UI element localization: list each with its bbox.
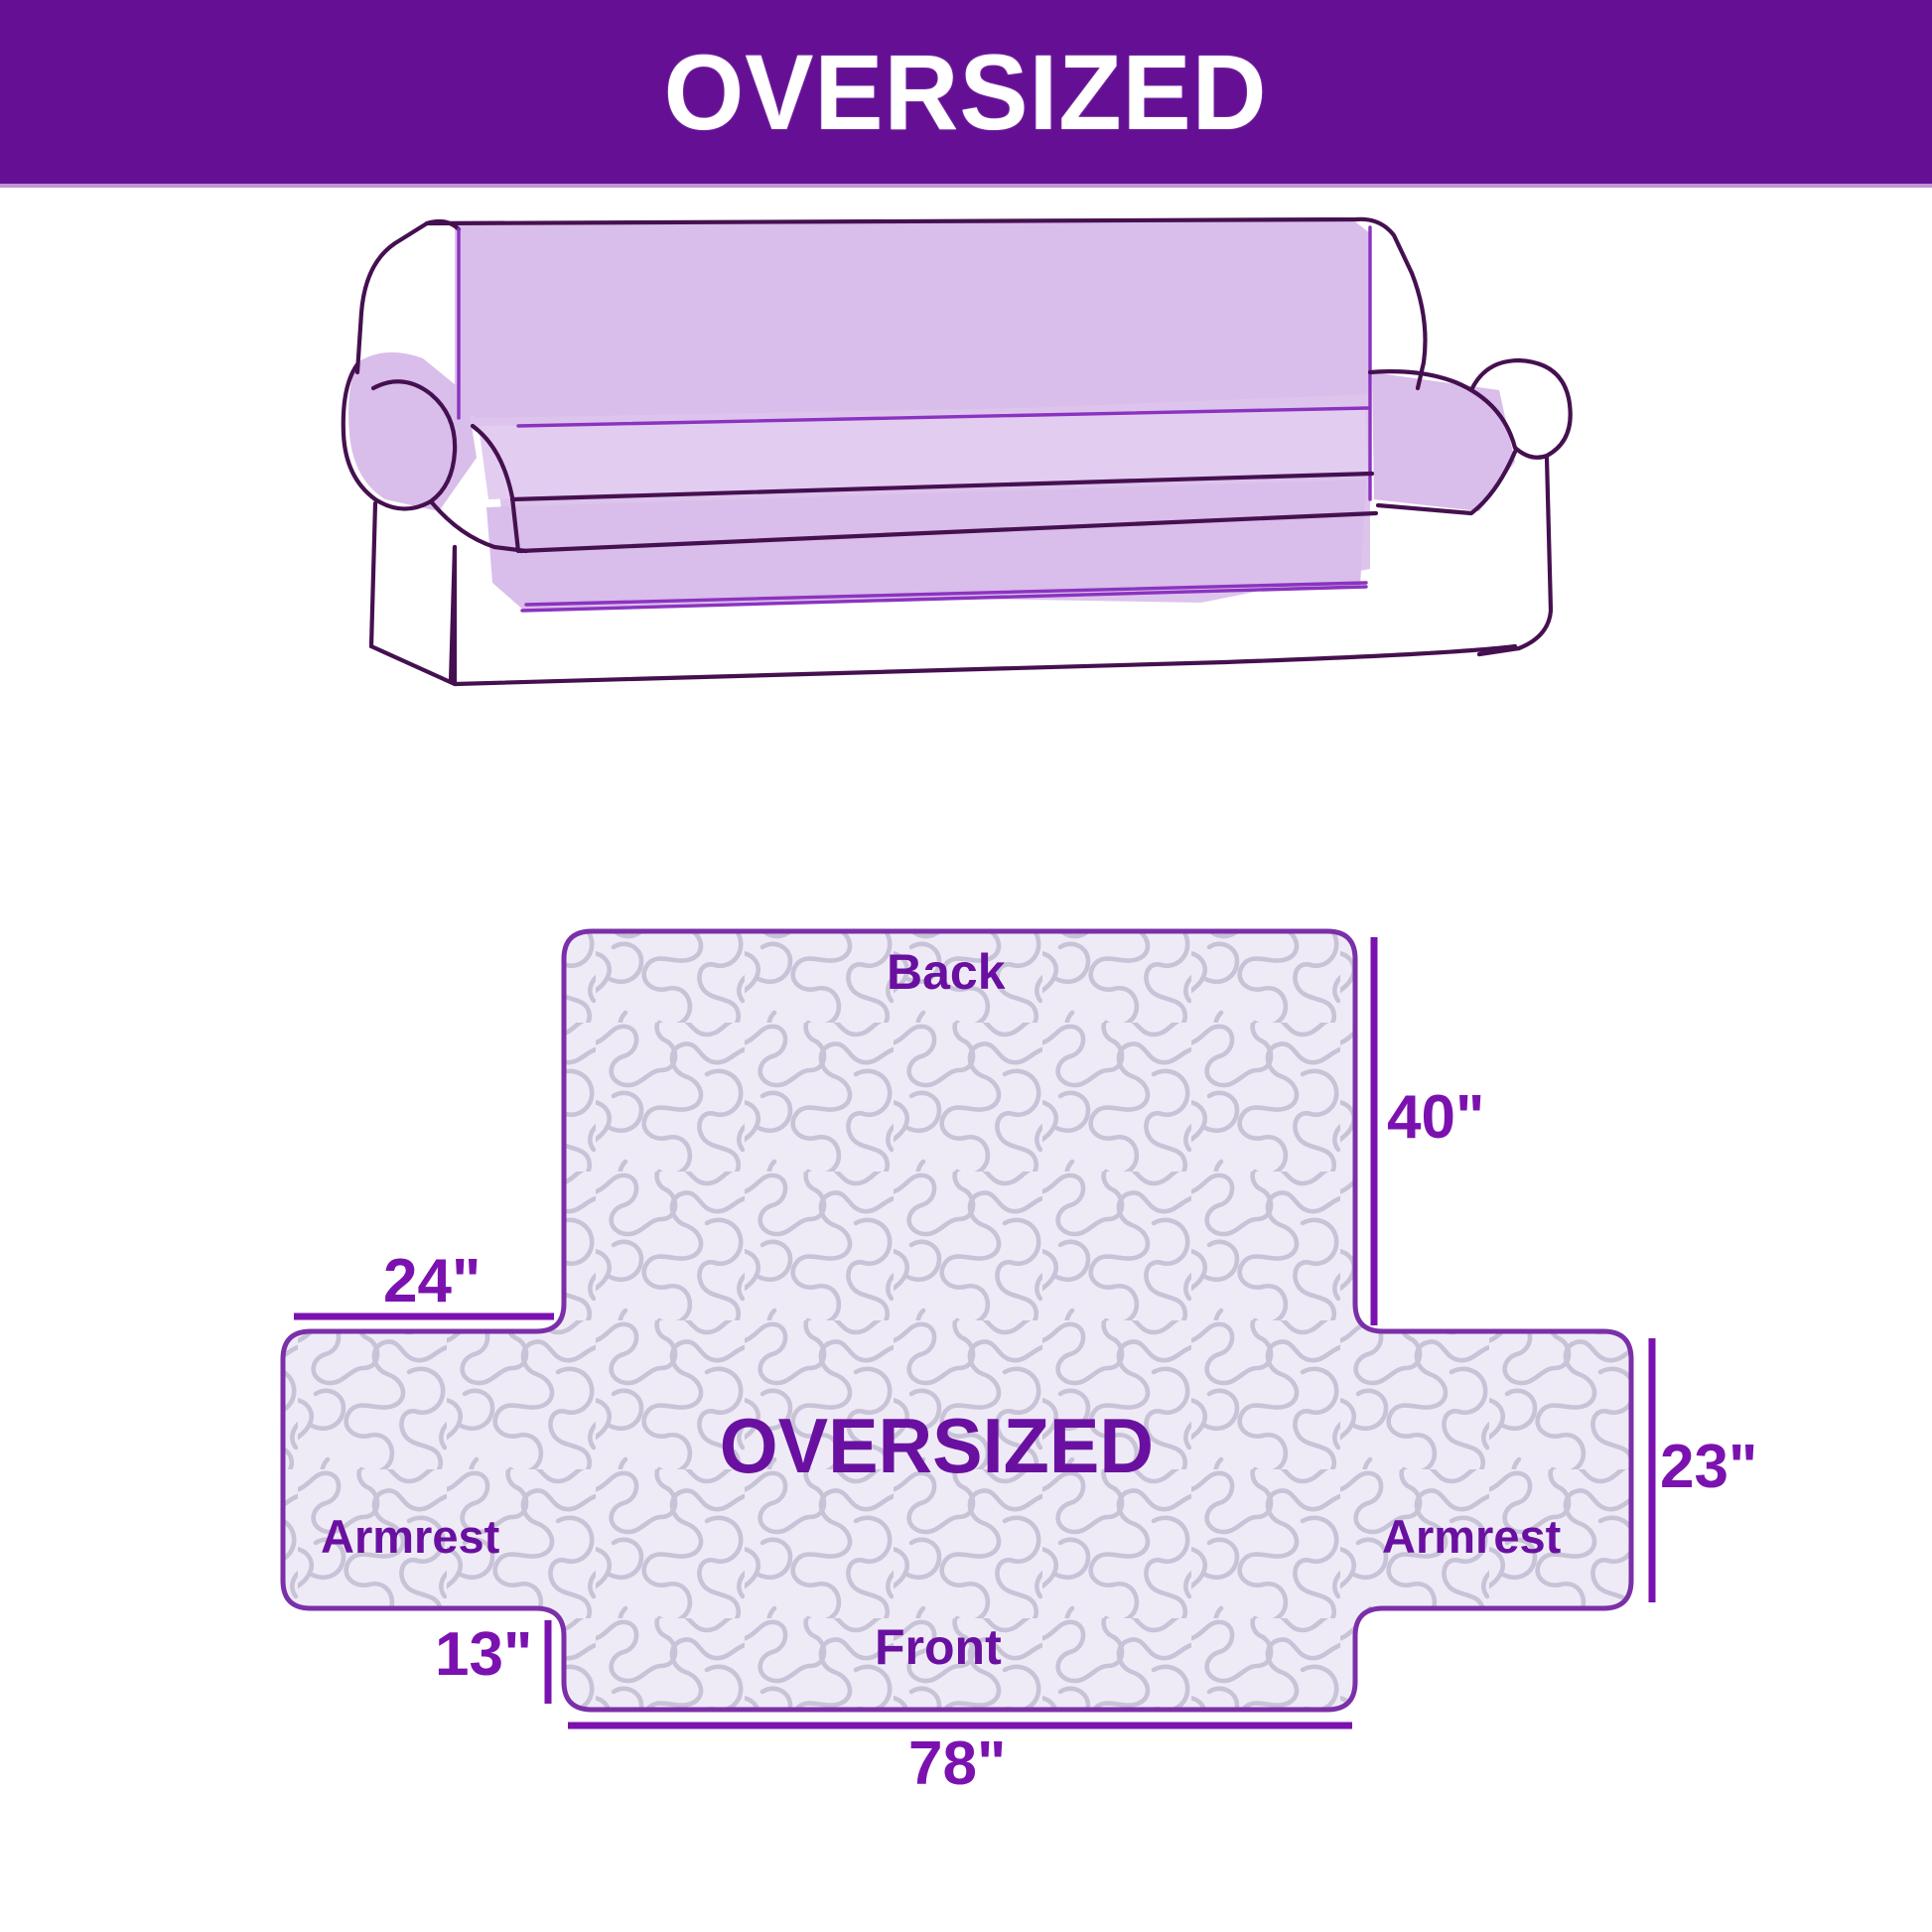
cover-cross-shape: [283, 931, 1631, 1710]
header-banner: OVERSIZED: [0, 0, 1932, 184]
label-oversized-center: OVERSIZED: [720, 1407, 1154, 1484]
sofa-illustration: .ink { fill:none; stroke:#451050; stroke…: [328, 213, 1608, 710]
dimension-label-13: 13": [435, 1624, 532, 1686]
dimension-label-23: 23": [1660, 1437, 1757, 1498]
dimension-label-78: 78": [908, 1733, 1006, 1795]
label-armrest-left: Armrest: [321, 1513, 499, 1560]
dimension-label-24: 24": [383, 1251, 481, 1312]
sofa-line-drawing-svg: .ink { fill:none; stroke:#451050; stroke…: [328, 213, 1608, 710]
page-title: OVERSIZED: [664, 39, 1268, 146]
banner-underline-divider: [0, 184, 1932, 188]
label-front: Front: [875, 1622, 1002, 1672]
sofa-back-panel-fill: [459, 219, 1370, 418]
label-back: Back: [887, 947, 1006, 997]
dimension-label-40: 40": [1387, 1087, 1484, 1149]
label-armrest-right: Armrest: [1382, 1513, 1561, 1560]
